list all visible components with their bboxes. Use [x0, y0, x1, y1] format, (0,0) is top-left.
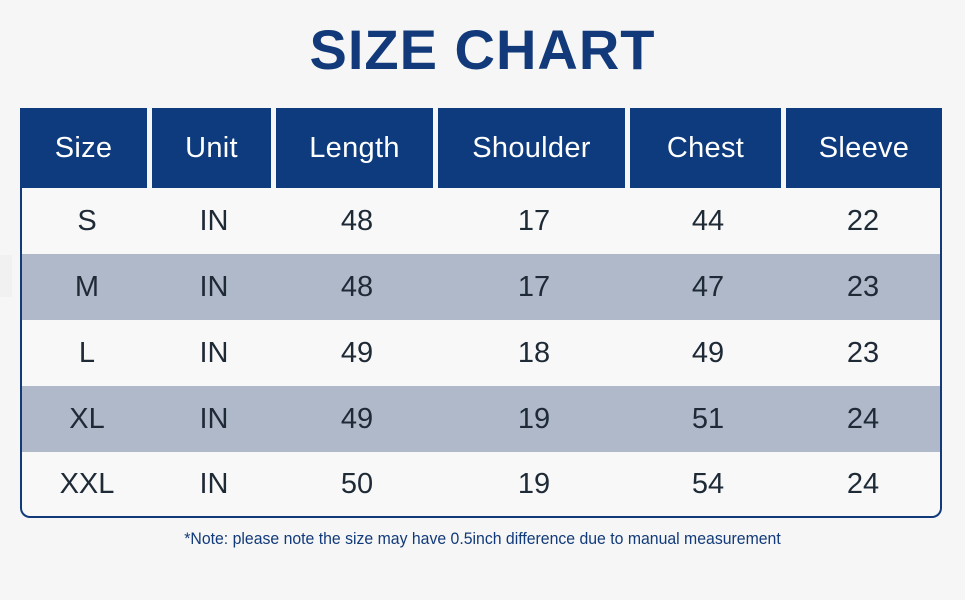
size-table: Size Unit Length Shoulder Chest Sleeve S…: [20, 108, 942, 518]
table-header: Size Unit Length Shoulder Chest Sleeve: [20, 108, 942, 188]
size-table-container: Size Unit Length Shoulder Chest Sleeve S…: [20, 108, 942, 518]
table-row: S IN 48 17 44 22: [20, 188, 942, 254]
cell-unit: IN: [152, 188, 276, 254]
cell-sleeve: 22: [786, 188, 942, 254]
cell-length: 49: [276, 320, 438, 386]
table-row: XXL IN 50 19 54 24: [20, 452, 942, 518]
cell-length: 48: [276, 254, 438, 320]
cell-sleeve: 24: [786, 452, 942, 518]
table-row: XL IN 49 19 51 24: [20, 386, 942, 452]
column-header-unit: Unit: [152, 108, 276, 188]
measurement-note: *Note: please note the size may have 0.5…: [34, 529, 931, 549]
cell-chest: 51: [630, 386, 786, 452]
cell-unit: IN: [152, 452, 276, 518]
cell-shoulder: 19: [438, 452, 630, 518]
cell-shoulder: 19: [438, 386, 630, 452]
column-header-chest: Chest: [630, 108, 786, 188]
cell-chest: 44: [630, 188, 786, 254]
cell-size: L: [20, 320, 152, 386]
cell-shoulder: 17: [438, 188, 630, 254]
cell-length: 48: [276, 188, 438, 254]
column-header-size: Size: [20, 108, 152, 188]
left-edge-artifact: [0, 255, 12, 297]
column-header-length: Length: [276, 108, 438, 188]
cell-length: 49: [276, 386, 438, 452]
cell-sleeve: 23: [786, 320, 942, 386]
page-title: SIZE CHART: [0, 0, 965, 78]
cell-chest: 49: [630, 320, 786, 386]
cell-length: 50: [276, 452, 438, 518]
column-header-sleeve: Sleeve: [786, 108, 942, 188]
cell-unit: IN: [152, 254, 276, 320]
cell-chest: 47: [630, 254, 786, 320]
size-chart-page: SIZE CHART Size Unit Length Shoulder Che…: [0, 0, 965, 600]
table-header-row: Size Unit Length Shoulder Chest Sleeve: [20, 108, 942, 188]
table-body: S IN 48 17 44 22 M IN 48 17 47 23 L: [20, 188, 942, 518]
column-header-shoulder: Shoulder: [438, 108, 630, 188]
cell-size: XXL: [20, 452, 152, 518]
cell-unit: IN: [152, 320, 276, 386]
cell-size: M: [20, 254, 152, 320]
cell-unit: IN: [152, 386, 276, 452]
cell-sleeve: 24: [786, 386, 942, 452]
cell-chest: 54: [630, 452, 786, 518]
cell-sleeve: 23: [786, 254, 942, 320]
table-row: L IN 49 18 49 23: [20, 320, 942, 386]
cell-size: S: [20, 188, 152, 254]
cell-size: XL: [20, 386, 152, 452]
table-row: M IN 48 17 47 23: [20, 254, 942, 320]
cell-shoulder: 18: [438, 320, 630, 386]
cell-shoulder: 17: [438, 254, 630, 320]
